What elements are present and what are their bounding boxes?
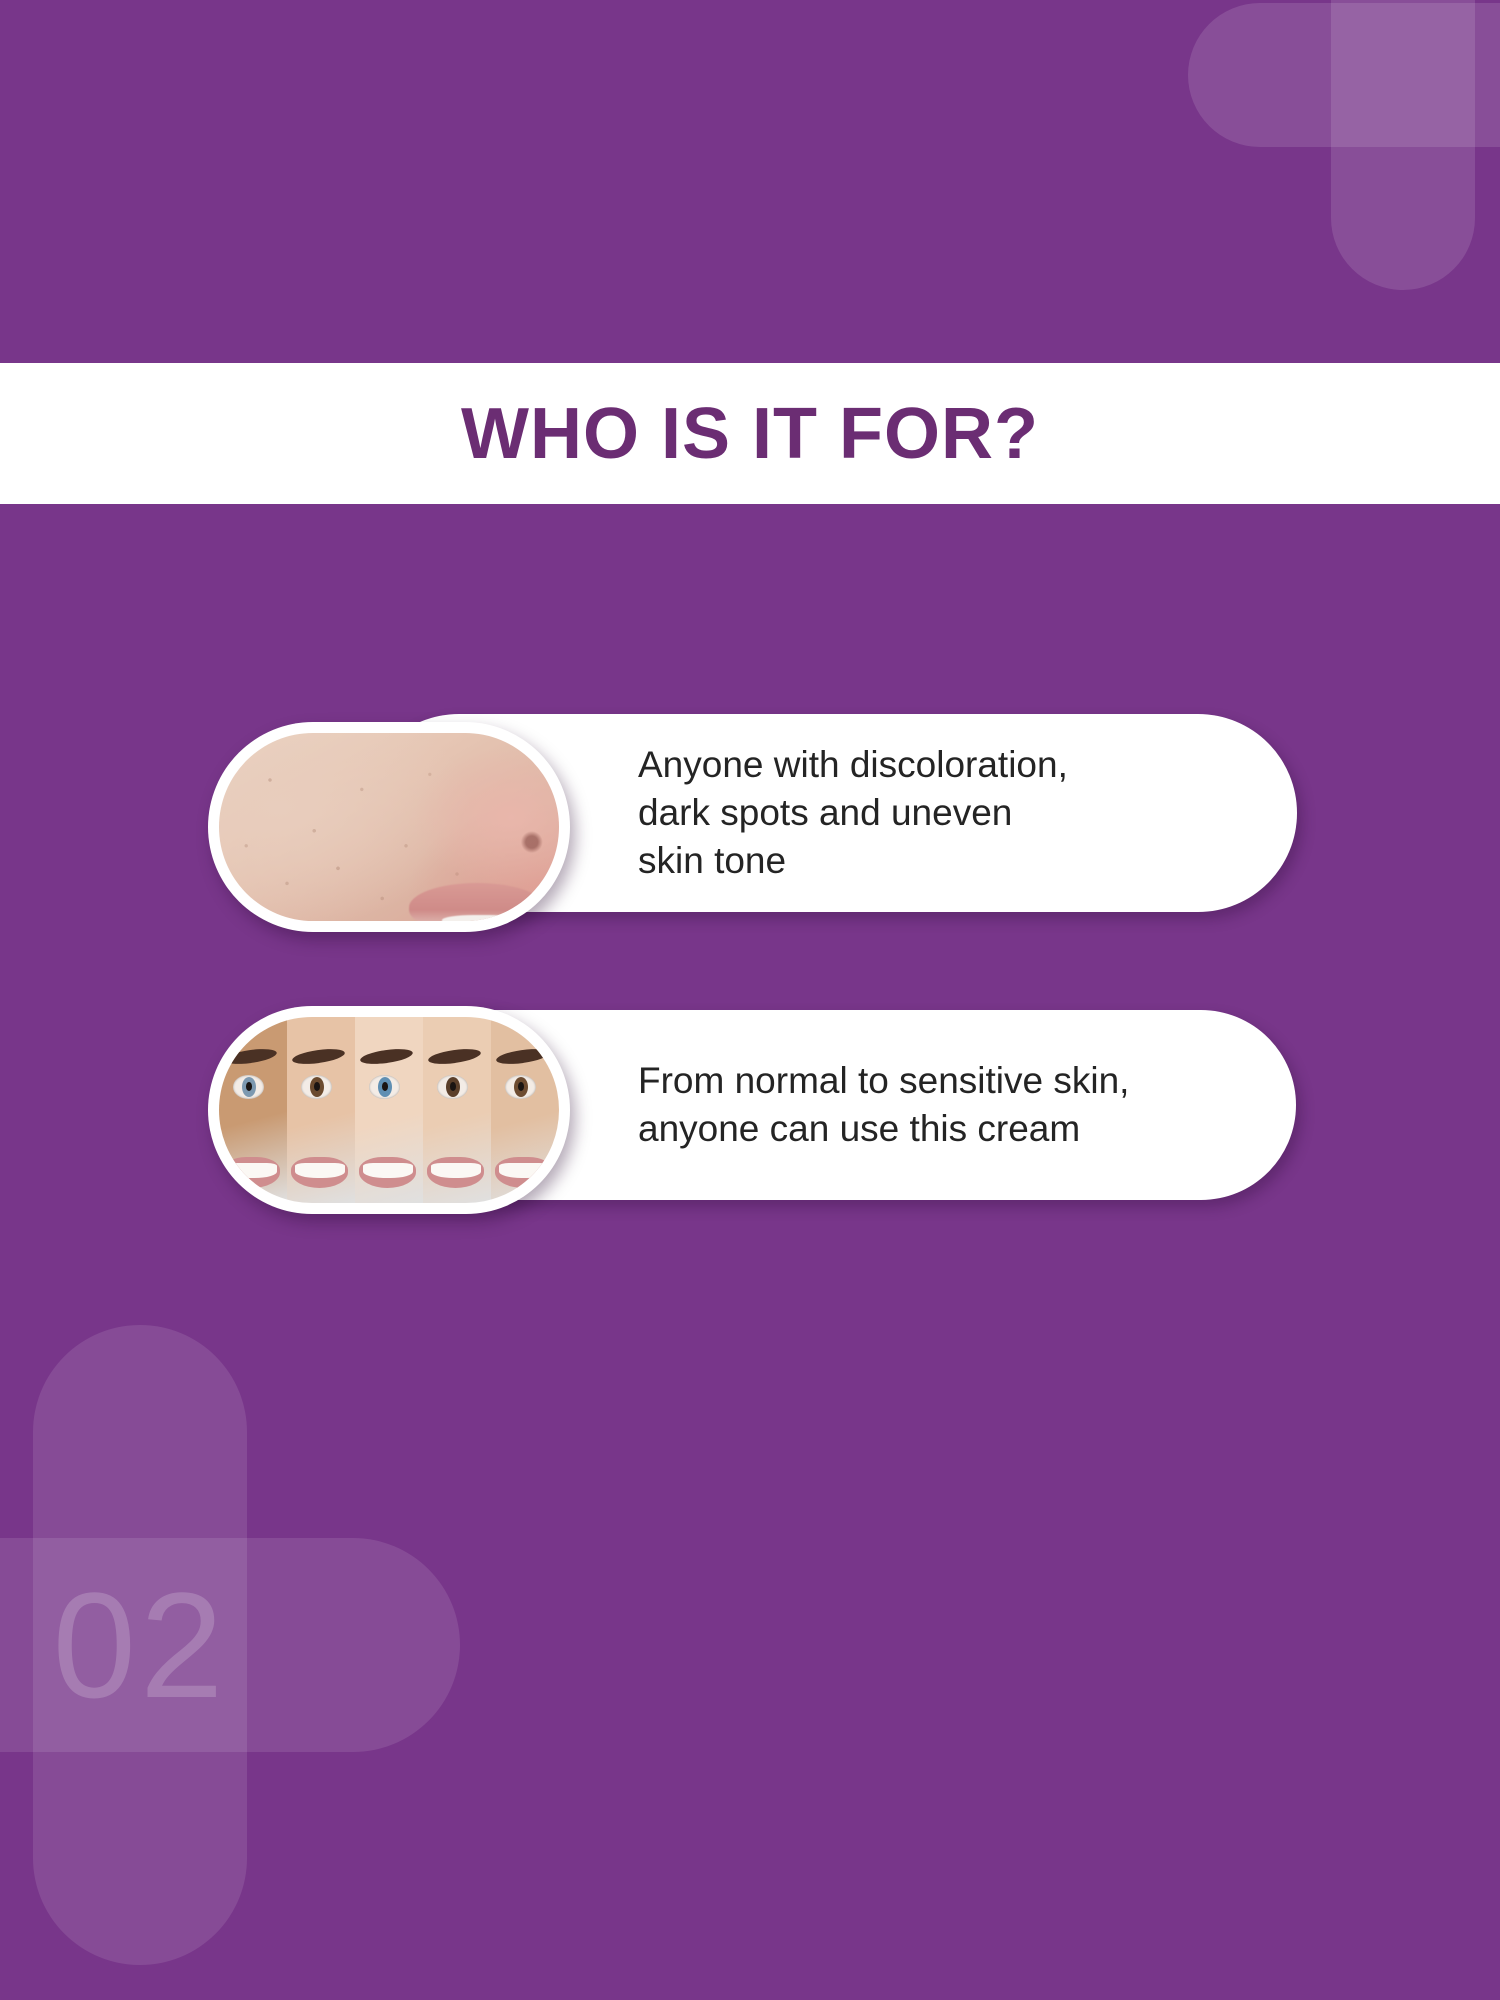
plus-horizontal-bar bbox=[1188, 3, 1500, 146]
smiling-mouth bbox=[359, 1157, 416, 1189]
card-text: Anyone with discoloration, dark spots an… bbox=[638, 741, 1068, 885]
plus-vertical-bar bbox=[33, 1325, 246, 1965]
eye bbox=[233, 1075, 264, 1099]
smiling-mouth bbox=[291, 1157, 348, 1189]
eye bbox=[301, 1075, 332, 1099]
card-text: From normal to sensitive skin, anyone ca… bbox=[638, 1057, 1129, 1153]
title-band: WHO IS IT FOR? bbox=[0, 363, 1500, 504]
eye bbox=[437, 1075, 468, 1099]
card-thumbnail bbox=[208, 722, 570, 932]
face-strip bbox=[355, 1017, 423, 1203]
page-title: WHO IS IT FOR? bbox=[461, 393, 1039, 475]
feature-card[interactable]: Anyone with discoloration, dark spots an… bbox=[0, 700, 1500, 960]
smiling-mouth bbox=[495, 1157, 552, 1189]
eye bbox=[369, 1075, 400, 1099]
face-strip bbox=[219, 1017, 287, 1203]
smiling-mouth bbox=[427, 1157, 484, 1189]
decorative-plus-shape-bottom-left bbox=[0, 1325, 460, 1965]
iris bbox=[378, 1077, 392, 1097]
skin-discoloration-photo bbox=[219, 733, 559, 921]
face-strip-collage bbox=[219, 1017, 559, 1203]
step-number: 02 bbox=[0, 1325, 460, 1965]
feature-card[interactable]: From normal to sensitive skin, anyone ca… bbox=[0, 990, 1500, 1240]
card-thumbnail bbox=[208, 1006, 570, 1214]
slide-canvas: WHO IS IT FOR? Anyone with discoloration… bbox=[0, 0, 1500, 2000]
skin-tones-collage-photo bbox=[219, 1017, 559, 1203]
iris bbox=[514, 1077, 528, 1097]
iris bbox=[310, 1077, 324, 1097]
plus-vertical-bar bbox=[1331, 0, 1474, 290]
iris bbox=[446, 1077, 460, 1097]
eye bbox=[505, 1075, 536, 1099]
iris bbox=[242, 1077, 256, 1097]
decorative-plus-shape-top-right bbox=[1188, 0, 1500, 290]
plus-horizontal-bar bbox=[0, 1538, 460, 1751]
face-strip bbox=[491, 1017, 559, 1203]
lip-detail bbox=[409, 883, 545, 921]
face-strip bbox=[423, 1017, 491, 1203]
smiling-mouth bbox=[223, 1157, 280, 1189]
face-strip bbox=[287, 1017, 355, 1203]
